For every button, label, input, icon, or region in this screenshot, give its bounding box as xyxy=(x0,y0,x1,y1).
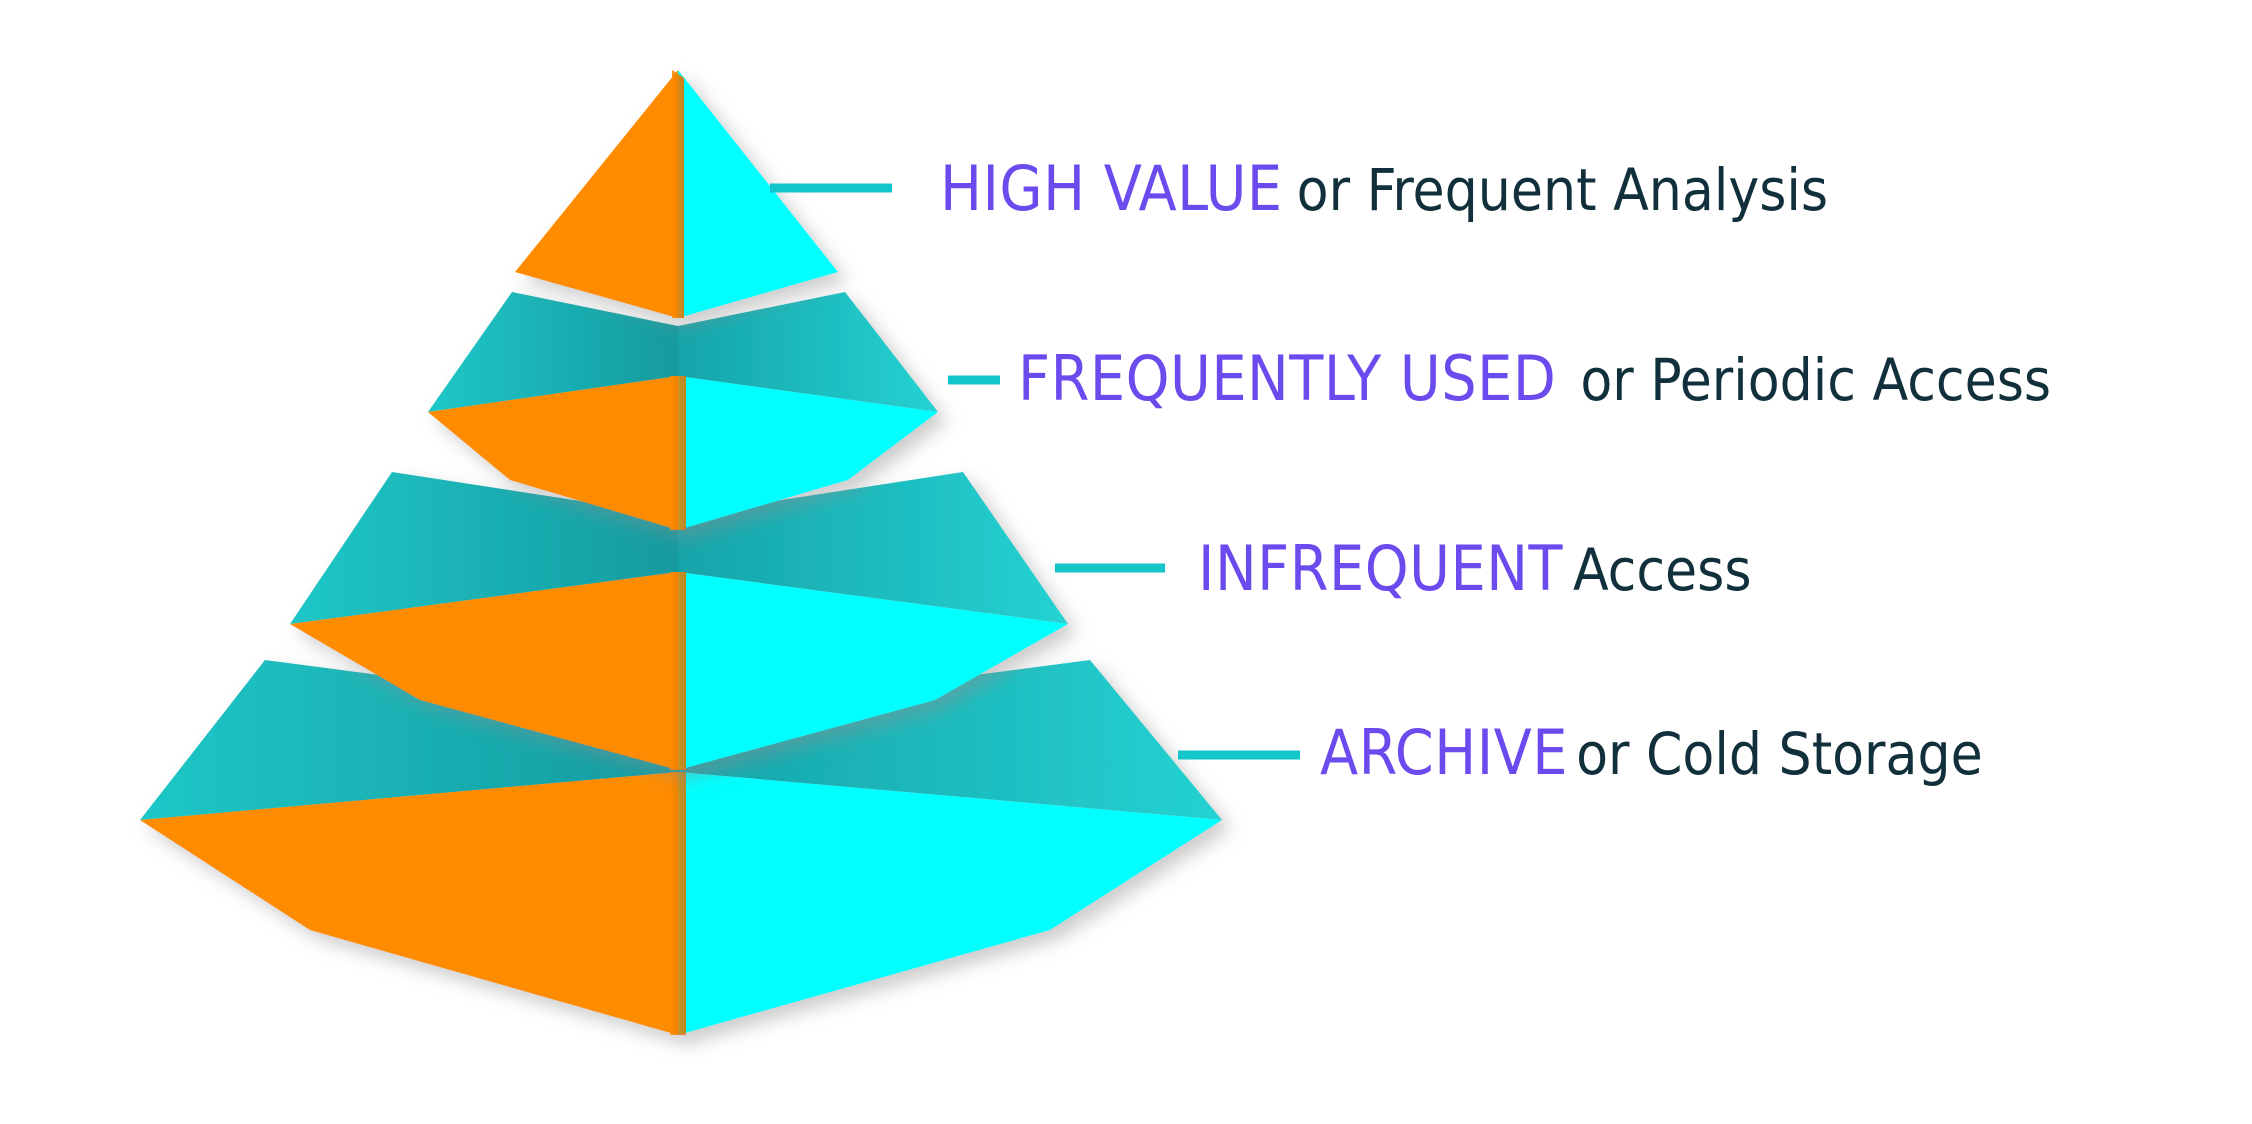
pyramid-label-high-value-rest: or Frequent Analysis xyxy=(1297,161,1828,219)
pyramid-label-archive[interactable]: ARCHIVE or Cold Storage xyxy=(1320,722,1983,784)
pyramid-label-frequently-used[interactable]: FREQUENTLY USED or Periodic Access xyxy=(1018,348,2051,410)
tier-archive-center-seam xyxy=(670,772,686,1035)
pyramid-label-infrequent[interactable]: INFREQUENT Access xyxy=(1198,538,1752,600)
pyramid-label-frequently-used-keyword: FREQUENTLY USED xyxy=(1018,348,1556,410)
pyramid-label-high-value-keyword: HIGH VALUE xyxy=(940,158,1283,220)
pyramid-label-archive-keyword: ARCHIVE xyxy=(1320,722,1568,784)
pyramid-label-infrequent-keyword: INFREQUENT xyxy=(1198,538,1563,600)
pyramid-label-archive-rest: or Cold Storage xyxy=(1576,725,1983,783)
tier-highvalue-center-seam xyxy=(672,70,684,318)
tier-highvalue-right-face xyxy=(678,70,838,318)
pyramid-label-high-value[interactable]: HIGH VALUE or Frequent Analysis xyxy=(940,158,1828,220)
diagram-canvas: HIGH VALUE or Frequent Analysis FREQUENT… xyxy=(0,0,2252,1124)
tier-infrequent-center-seam xyxy=(670,572,686,770)
tier-highvalue-left-face xyxy=(515,70,678,318)
pyramid-tier-high-value[interactable] xyxy=(515,70,838,318)
pyramid-label-frequently-used-rest: or Periodic Access xyxy=(1580,351,2051,409)
pyramid-label-infrequent-rest: Access xyxy=(1573,541,1752,599)
tier-frequent-center-seam xyxy=(670,376,686,530)
